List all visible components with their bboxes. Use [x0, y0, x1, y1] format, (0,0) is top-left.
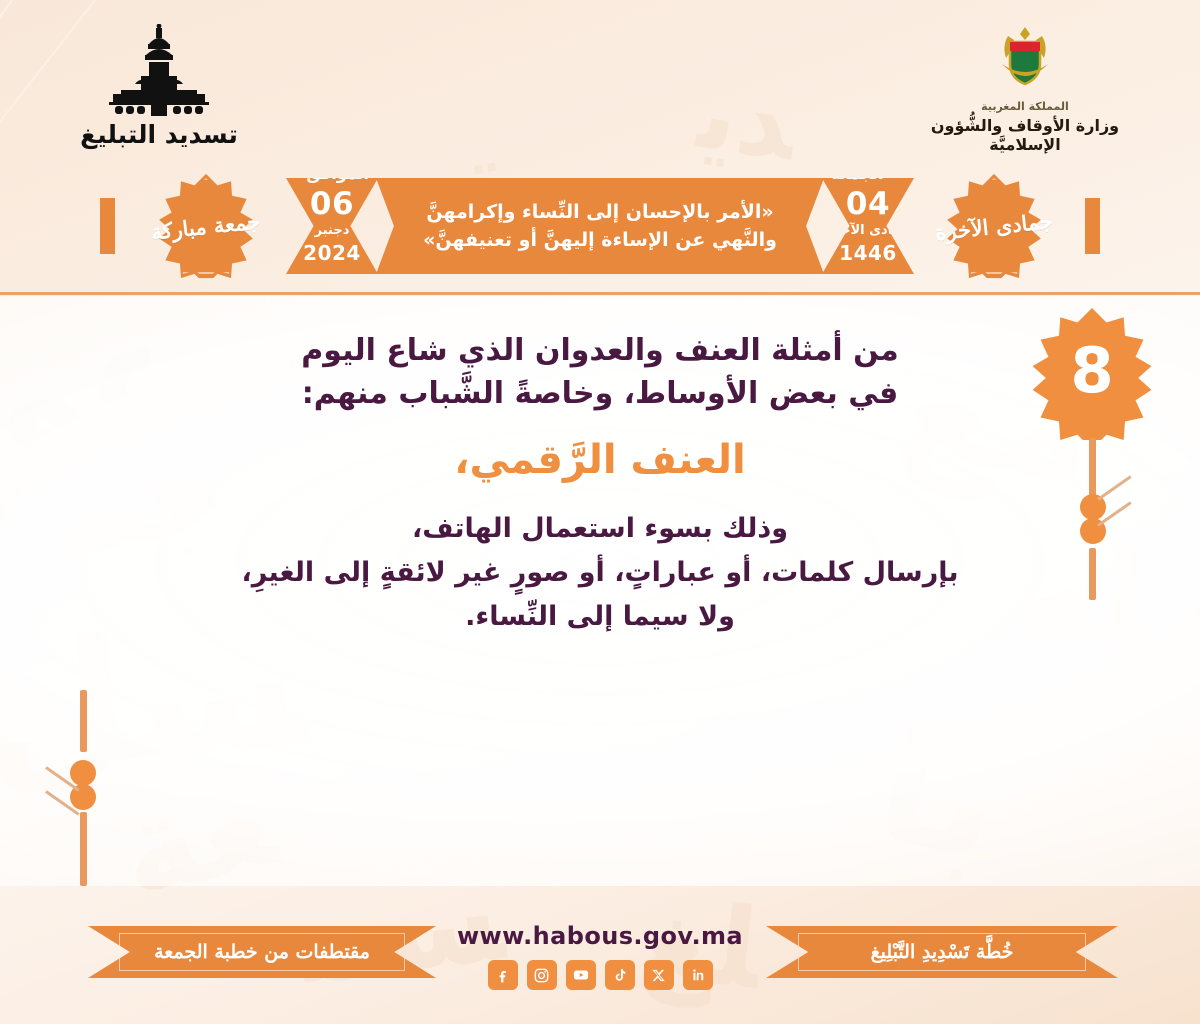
main-content: من أمثلة العنف والعدوان الذي شاع اليوم ف…	[120, 330, 1080, 850]
badge-blessed-friday: جمعة مباركة	[142, 162, 270, 290]
ministry-logo: المملكة المغربية وزارة الأوقاف والشُّؤون…	[910, 24, 1140, 154]
organization-name: تسديد التبليغ	[64, 120, 254, 149]
sermon-title-line-1: «الأمر بالإحسان إلى النِّساء وإكرامهنَّ	[426, 198, 773, 227]
tiktok-icon[interactable]	[605, 960, 635, 990]
ornament-dot-left-upper	[70, 760, 96, 786]
hijri-weekday: الجمعة	[822, 160, 892, 188]
website-url[interactable]: www.habous.gov.ma	[0, 922, 1200, 950]
facebook-icon[interactable]	[488, 960, 518, 990]
footer-center: www.habous.gov.ma	[0, 922, 1200, 990]
gregorian-date-block: الموافق 06 دجنبر 2024	[286, 178, 378, 274]
body-line-3: وذلك بسوء استعمال الهاتف،	[412, 507, 788, 551]
social-links	[0, 960, 1200, 990]
mosque-icon	[99, 24, 219, 116]
kingdom-name: المملكة المغربية	[910, 100, 1140, 113]
sermon-title-line-2: والنَّهي عن الإساءة إليهنَّ أو تعنيفهنَّ…	[423, 226, 777, 255]
ornament-stem-left-bottom	[80, 812, 87, 886]
header: تسديد التبليغ المملكة المغربية وزارة الأ…	[0, 0, 1200, 296]
hijri-year: 1446	[822, 243, 914, 263]
body-line-1: من أمثلة العنف والعدوان الذي شاع اليوم	[301, 330, 898, 373]
youtube-icon[interactable]	[566, 960, 596, 990]
x-twitter-icon[interactable]	[644, 960, 674, 990]
hijri-month: جمادى الآخرة	[822, 224, 914, 238]
body-line-2: في بعض الأوساط، وخاصةً الشَّباب منهم:	[302, 373, 899, 416]
header-divider	[0, 292, 1200, 295]
banner-tick-left	[100, 198, 115, 254]
gregorian-month: دجنبر	[286, 224, 378, 238]
body-line-4: بإرسال كلمات، أو عباراتٍ، أو صورٍ غير لا…	[241, 551, 958, 595]
sermon-title-banner: «الأمر بالإحسان إلى النِّساء وإكرامهنَّ …	[376, 178, 824, 274]
morocco-coat-of-arms-icon	[994, 24, 1056, 90]
linkedin-icon[interactable]	[683, 960, 713, 990]
highlight-phrase: العنف الرَّقمي،	[454, 431, 745, 489]
organization-logo: تسديد التبليغ	[64, 24, 254, 149]
infographic-page: ﻋﻮ ﺟﻤ ﺴﻞ ﻌﺔ ﻣﻊ ﻠﻪ ﺑﺎ ﺴﻤ ﻠﻎ ﺗﺒ ﺪﻳ	[0, 0, 1200, 1024]
gregorian-year: 2024	[286, 243, 378, 263]
ornament-stem-right-bottom	[1089, 548, 1096, 600]
footer: مقتطفات من خطبة الجمعة خُطَّة تَسْدِيدِ …	[0, 904, 1200, 1024]
ministry-name: وزارة الأوقاف والشُّؤون الإسلاميَّة	[910, 116, 1140, 154]
banner-tick-right	[1085, 198, 1100, 254]
body-line-5: ولا سيما إلى النِّساء.	[465, 595, 735, 639]
gregorian-tag: الموافق	[297, 160, 378, 188]
hijri-date-block: الجمعة 04 جمادى الآخرة 1446	[822, 178, 914, 274]
instagram-icon[interactable]	[527, 960, 557, 990]
date-banner: جمعة مباركة جمادى الآخرة الموافق 06 دجنب…	[0, 162, 1200, 290]
badge-hijri-month: جمادى الآخرة	[930, 162, 1058, 290]
ornament-stem-left-top	[80, 690, 87, 752]
